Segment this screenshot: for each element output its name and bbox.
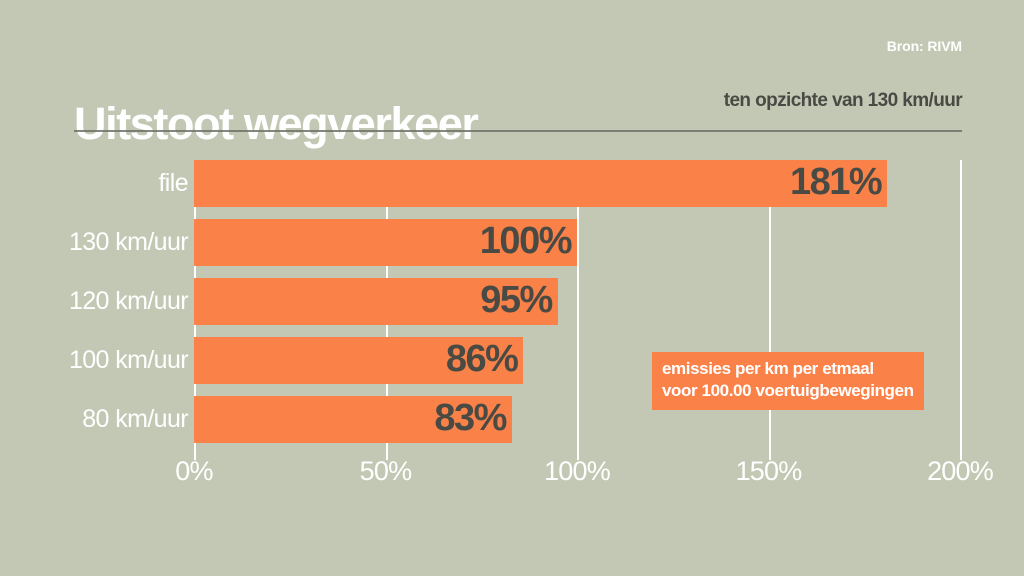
annotation-callout: emissies per km per etmaal voor 100.00 v…	[652, 352, 924, 410]
x-tick-label: 100%	[544, 456, 610, 486]
infographic-root: Bron: RIVM Uitstoot wegverkeer ten opzic…	[0, 0, 1024, 576]
x-tick-label: 150%	[736, 456, 802, 486]
bar-chart: file181%130 km/uur100%120 km/uur95%100 k…	[0, 0, 1024, 576]
x-tick-label: 0%	[175, 456, 212, 486]
annotation-line-2: voor 100.00 voertuigbewegingen	[662, 380, 914, 402]
x-axis: 0%50%100%150%200%	[0, 0, 1024, 576]
x-tick-label: 50%	[360, 456, 412, 486]
x-tick-label: 200%	[927, 456, 993, 486]
annotation-line-1: emissies per km per etmaal	[662, 358, 914, 380]
